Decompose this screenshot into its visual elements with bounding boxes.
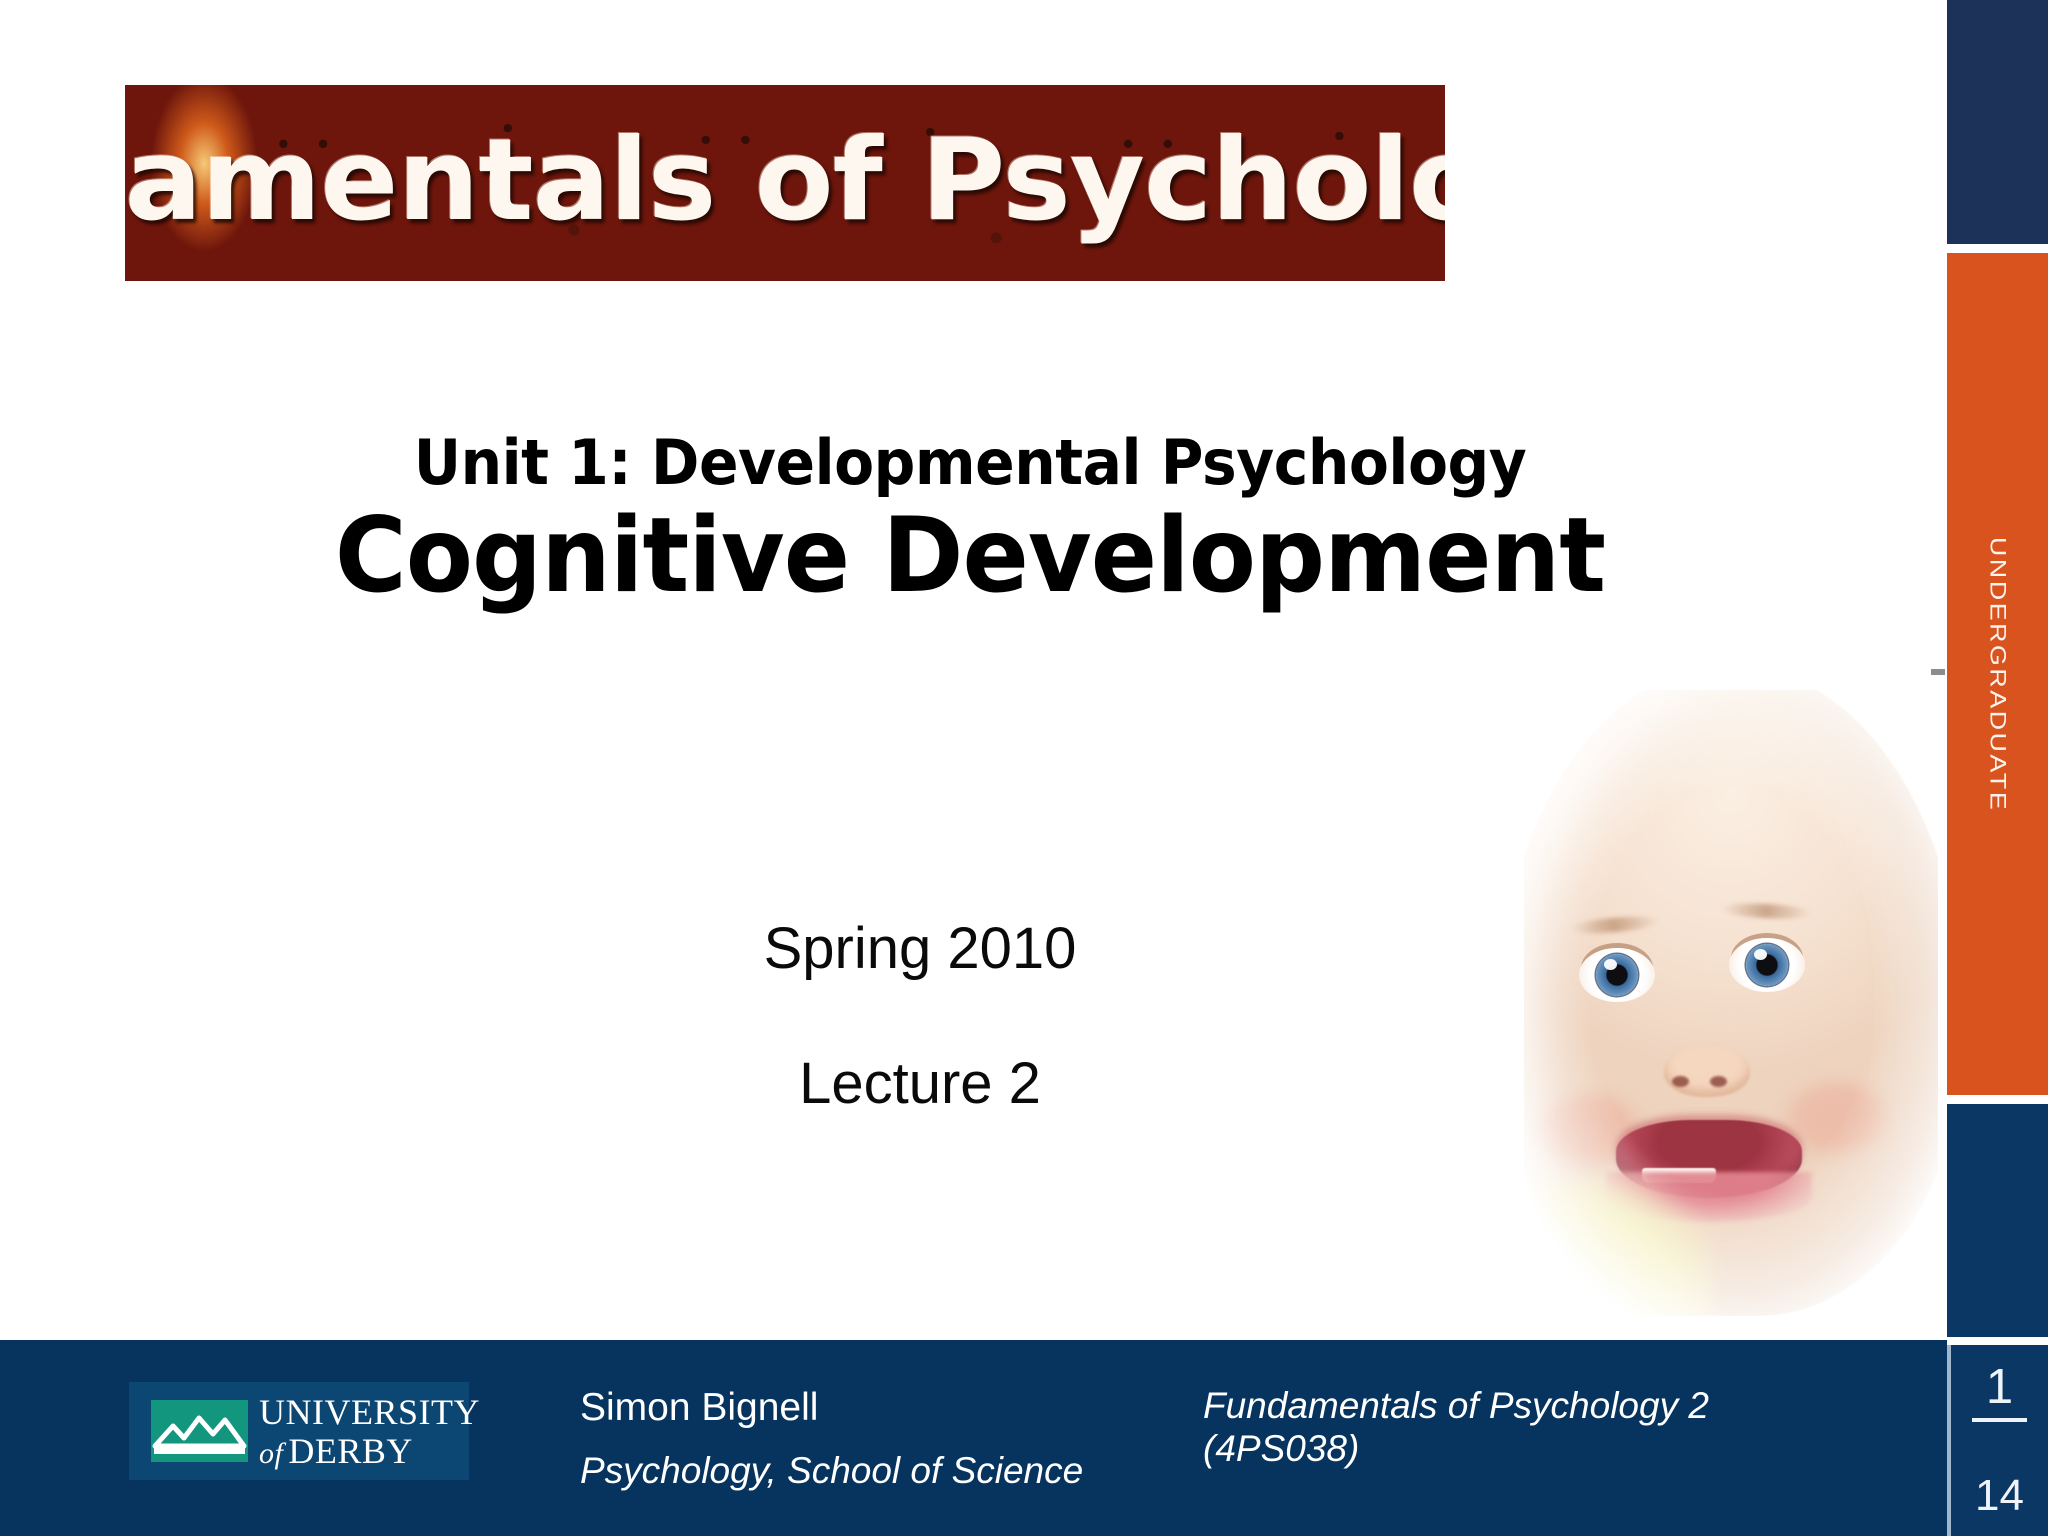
university-logo-wordmark: UNIVERSITY ofDERBY <box>259 1394 480 1469</box>
logo-of-word: of <box>259 1437 283 1470</box>
sidebar-navy-top-block <box>1947 0 2048 244</box>
presentation-slide: Fundamentals of Psychology 2 Unit 1: Dev… <box>0 0 2048 1536</box>
banner-title-text: Fundamentals of Psychology 2 <box>125 85 1445 281</box>
slide-footer: UNIVERSITY ofDERBY Simon Bignell Psychol… <box>0 1340 1947 1536</box>
term-label: Spring 2010 <box>560 915 1280 982</box>
photo-vignette <box>1524 690 1938 1316</box>
university-logo: UNIVERSITY ofDERBY <box>129 1382 469 1480</box>
page-number-current: 1 <box>1972 1363 2027 1422</box>
slide-title-block: Unit 1: Developmental Psychology Cogniti… <box>120 430 1820 614</box>
logo-line-derby: ofDERBY <box>259 1433 480 1469</box>
presenter-info: Simon Bignell Psychology, School of Scie… <box>580 1386 1083 1492</box>
sidebar-navy-mid-block <box>1947 1104 2048 1337</box>
smiling-baby-photo <box>1524 690 1938 1316</box>
presenter-name: Simon Bignell <box>580 1386 1083 1430</box>
right-sidebar: UNDERGRADUATE 1 14 <box>1947 0 2048 1536</box>
derby-mountains-icon <box>151 1400 248 1462</box>
presenter-department: Psychology, School of Science <box>580 1450 1083 1492</box>
sidebar-orange-block: UNDERGRADUATE <box>1947 253 2048 1095</box>
lecture-label: Lecture 2 <box>560 1050 1280 1117</box>
session-info: Spring 2010 Lecture 2 <box>560 915 1280 1117</box>
sidebar-level-label: UNDERGRADUATE <box>1985 536 2010 811</box>
stray-dash-mark <box>1931 669 1945 675</box>
course-title-footer: Fundamentals of Psychology 2 (4PS038) <box>1203 1384 1843 1471</box>
unit-subtitle: Unit 1: Developmental Psychology <box>171 430 1769 495</box>
page-indicator: 1 14 <box>1947 1345 2048 1536</box>
logo-line-university: UNIVERSITY <box>259 1394 480 1430</box>
page-number-total: 14 <box>1975 1474 2024 1518</box>
page-title: Cognitive Development <box>163 499 1778 614</box>
course-banner-image: Fundamentals of Psychology 2 <box>125 85 1445 281</box>
logo-derby-word: DERBY <box>288 1431 413 1471</box>
